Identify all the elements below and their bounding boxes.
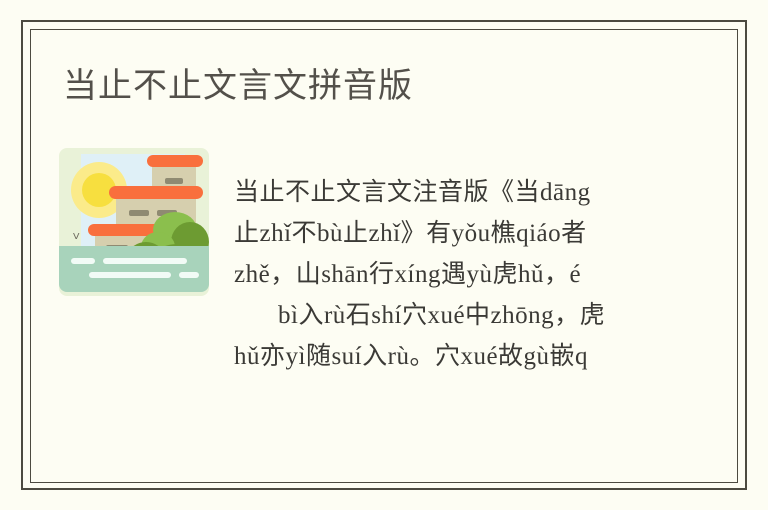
illustration-pagoda-temple-landscape: ⱽ (59, 148, 209, 296)
pagoda-upper-window (165, 178, 183, 184)
page-root: 当止不止文言文拼音版 ⱽ (0, 0, 768, 510)
pinyin-article-text: 当止不止文言文注音版《当dāng 止zhǐ不bù止zhǐ》有yǒu樵qiáo者 … (234, 172, 738, 377)
article-line: hǔ亦yì随suí入rù。穴xué故gù嵌q (234, 336, 738, 377)
water-ripple-1 (71, 258, 95, 264)
article-line: bì入rù石shí穴xué中zhōng，虎 (234, 295, 738, 336)
page-title: 当止不止文言文拼音版 (63, 66, 413, 106)
water-ripple-4 (179, 272, 199, 278)
pagoda-upper-roof (147, 155, 203, 167)
article-line: zhě，山shān行xíng遇yù虎hǔ，é (234, 254, 738, 295)
pagoda-middle-window-left (129, 210, 149, 216)
bird-icon: ⱽ (73, 234, 89, 244)
pagoda-middle-roof (109, 186, 203, 199)
article-line: 当止不止文言文注音版《当dāng (234, 172, 738, 213)
article-line: 止zhǐ不bù止zhǐ》有yǒu樵qiáo者 (234, 213, 738, 254)
water-ripple-2 (103, 258, 187, 264)
water-ripple-3 (89, 272, 171, 278)
water-area (59, 246, 209, 292)
inner-border-frame: 当止不止文言文拼音版 ⱽ (30, 29, 738, 483)
